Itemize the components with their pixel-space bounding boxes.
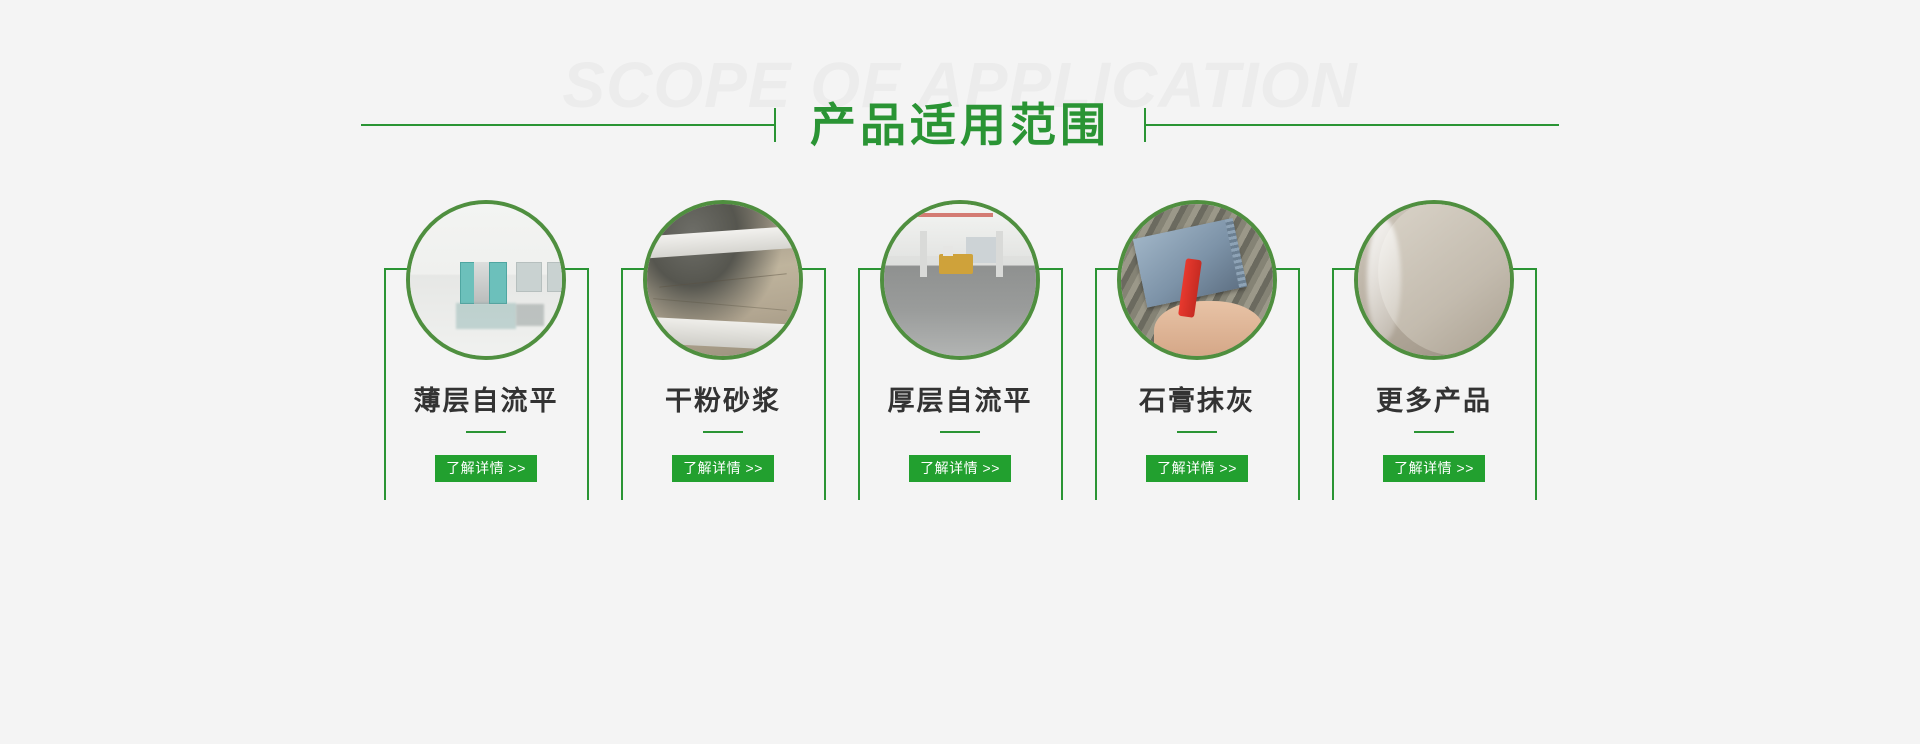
learn-more-button[interactable]: 了解详情 >>	[909, 455, 1011, 482]
card-divider	[940, 431, 980, 433]
card-image-circle	[1117, 200, 1277, 360]
learn-more-button[interactable]: 了解详情 >>	[1383, 455, 1485, 482]
product-card[interactable]: 厚层自流平 了解详情 >>	[858, 200, 1063, 482]
title-rule-left	[361, 124, 776, 126]
more-products-plate-photo	[1358, 204, 1510, 356]
card-divider	[1414, 431, 1454, 433]
thin-layer-self-leveling-floor-photo	[410, 204, 562, 356]
card-title: 石膏抹灰	[1095, 388, 1300, 415]
dry-powder-mortar-photo	[647, 204, 799, 356]
card-divider	[1177, 431, 1217, 433]
card-title: 厚层自流平	[858, 388, 1063, 415]
card-divider	[703, 431, 743, 433]
card-image-circle	[643, 200, 803, 360]
thick-layer-self-leveling-warehouse-photo	[884, 204, 1036, 356]
card-divider	[466, 431, 506, 433]
card-image-circle	[1354, 200, 1514, 360]
product-card[interactable]: 石膏抹灰 了解详情 >>	[1095, 200, 1300, 482]
card-title: 薄层自流平	[384, 388, 589, 415]
product-card[interactable]: 薄层自流平 了解详情 >>	[384, 200, 589, 482]
card-title: 干粉砂浆	[621, 388, 826, 415]
card-image-circle	[406, 200, 566, 360]
product-card[interactable]: 更多产品 了解详情 >>	[1332, 200, 1537, 482]
page-title: 产品适用范围	[776, 102, 1144, 148]
product-card[interactable]: 干粉砂浆 了解详情 >>	[621, 200, 826, 482]
title-rule-right	[1144, 124, 1559, 126]
title-row: 产品适用范围	[0, 102, 1920, 148]
section-header: SCOPE OF APPLICATION 产品适用范围	[0, 0, 1920, 200]
card-image-circle	[880, 200, 1040, 360]
product-card-list: 薄层自流平 了解详情 >> 干粉砂浆 了解详情 >>	[0, 200, 1920, 482]
card-title: 更多产品	[1332, 388, 1537, 415]
learn-more-button[interactable]: 了解详情 >>	[435, 455, 537, 482]
learn-more-button[interactable]: 了解详情 >>	[1146, 455, 1248, 482]
learn-more-button[interactable]: 了解详情 >>	[672, 455, 774, 482]
gypsum-plaster-trowel-photo	[1121, 204, 1273, 356]
